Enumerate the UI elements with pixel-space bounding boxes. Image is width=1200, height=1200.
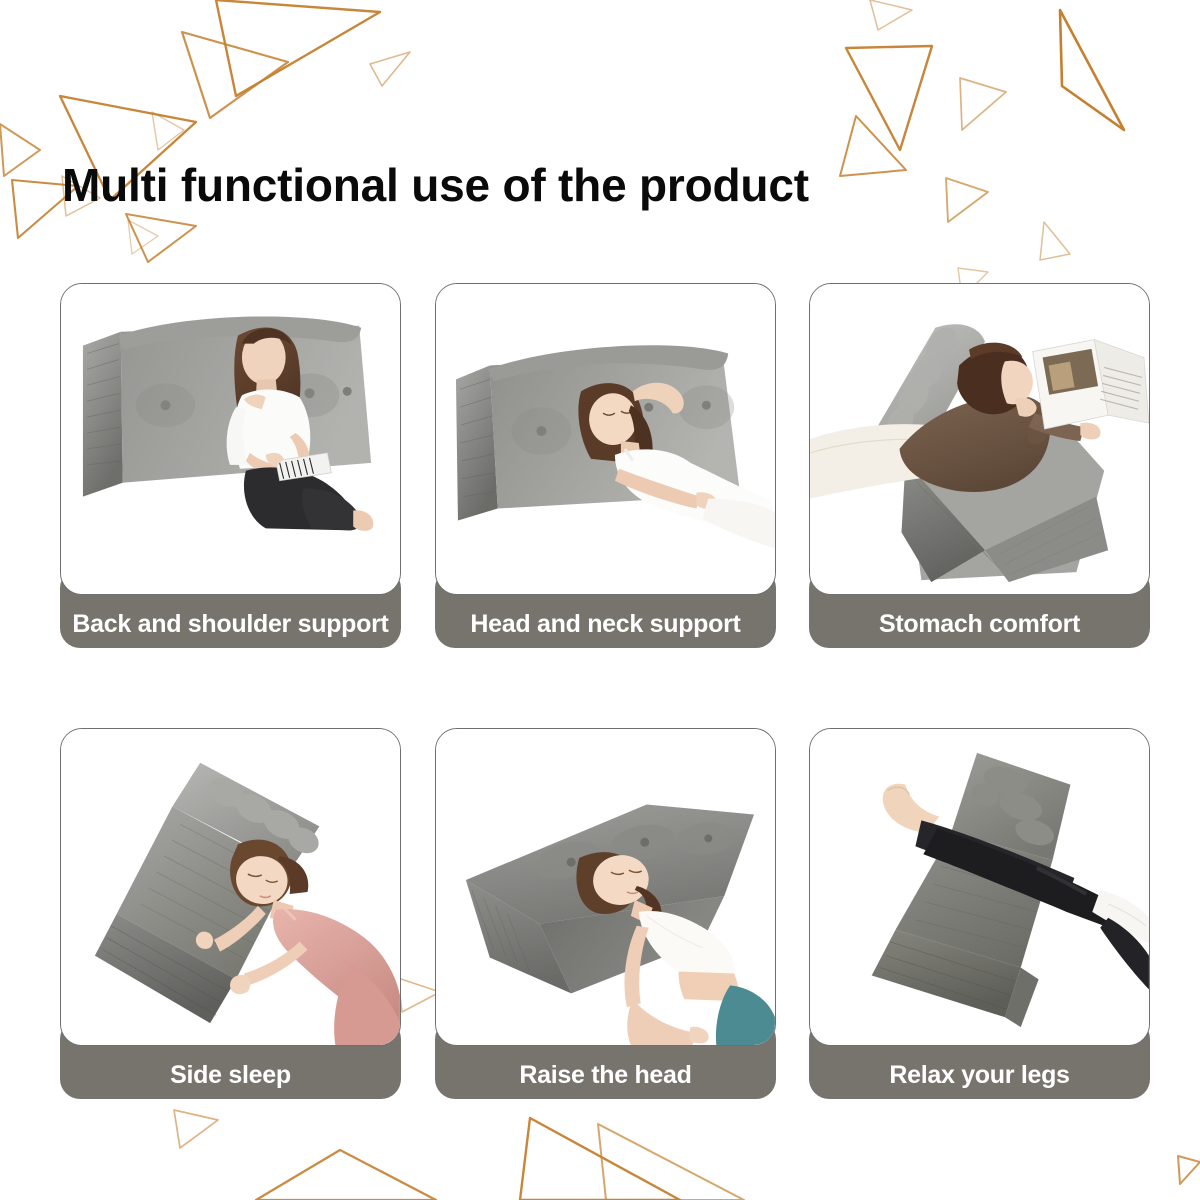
decor-triangle xyxy=(870,0,912,30)
decor-triangle xyxy=(846,46,932,150)
feature-card-head-and-neck-support[interactable]: Head and neck support xyxy=(435,283,776,595)
decor-triangle xyxy=(1178,1156,1200,1184)
decor-triangle xyxy=(0,124,40,176)
decor-triangle xyxy=(174,1110,218,1148)
decor-triangle xyxy=(946,178,988,222)
feature-card-back-and-shoulder-support[interactable]: Back and shoulder support xyxy=(60,283,401,595)
feature-card-relax-your-legs[interactable]: Relax your legs xyxy=(809,728,1150,1046)
product-photo-side-sleep xyxy=(60,728,401,1046)
decor-triangle xyxy=(126,214,196,262)
decor-triangle xyxy=(598,1124,744,1200)
product-photo-back-and-shoulder-support xyxy=(60,283,401,595)
caption-label: Side sleep xyxy=(170,1063,291,1088)
pillow-tuft-button xyxy=(567,858,576,867)
decor-triangle xyxy=(840,116,906,176)
decor-triangle xyxy=(520,1118,680,1200)
caption-label: Head and neck support xyxy=(470,612,740,637)
caption-label: Relax your legs xyxy=(889,1063,1069,1088)
infographic-page: Multi functional use of the product Back… xyxy=(0,0,1200,1200)
pillow-tuft-button xyxy=(640,838,649,847)
pillow-tuft-button xyxy=(343,387,352,396)
pillow-tuft-button xyxy=(704,834,712,842)
feature-card-side-sleep[interactable]: Side sleep xyxy=(60,728,401,1046)
decor-triangle xyxy=(398,978,440,1012)
decor-triangle xyxy=(182,32,288,118)
decor-triangle xyxy=(1060,10,1124,130)
caption-label: Stomach comfort xyxy=(879,612,1080,637)
decor-triangle xyxy=(370,52,410,86)
decor-triangle xyxy=(216,0,380,96)
magazine xyxy=(1033,340,1149,429)
decor-triangle xyxy=(1040,222,1070,260)
caption-label: Raise the head xyxy=(519,1063,691,1088)
product-photo-head-and-neck-support xyxy=(435,283,776,595)
product-photo-stomach-comfort xyxy=(809,283,1150,595)
product-photo-raise-the-head xyxy=(435,728,776,1046)
feature-card-raise-the-head[interactable]: Raise the head xyxy=(435,728,776,1046)
page-title: Multi functional use of the product xyxy=(62,158,809,212)
product-photo-relax-your-legs xyxy=(809,728,1150,1046)
decor-triangle xyxy=(256,1150,436,1200)
decor-triangle xyxy=(960,78,1006,130)
feature-card-stomach-comfort[interactable]: Stomach comfort xyxy=(809,283,1150,595)
caption-label: Back and shoulder support xyxy=(72,612,388,637)
decor-triangle xyxy=(128,220,158,254)
decor-triangle xyxy=(152,112,184,150)
pillow-tuft-button xyxy=(644,403,653,412)
